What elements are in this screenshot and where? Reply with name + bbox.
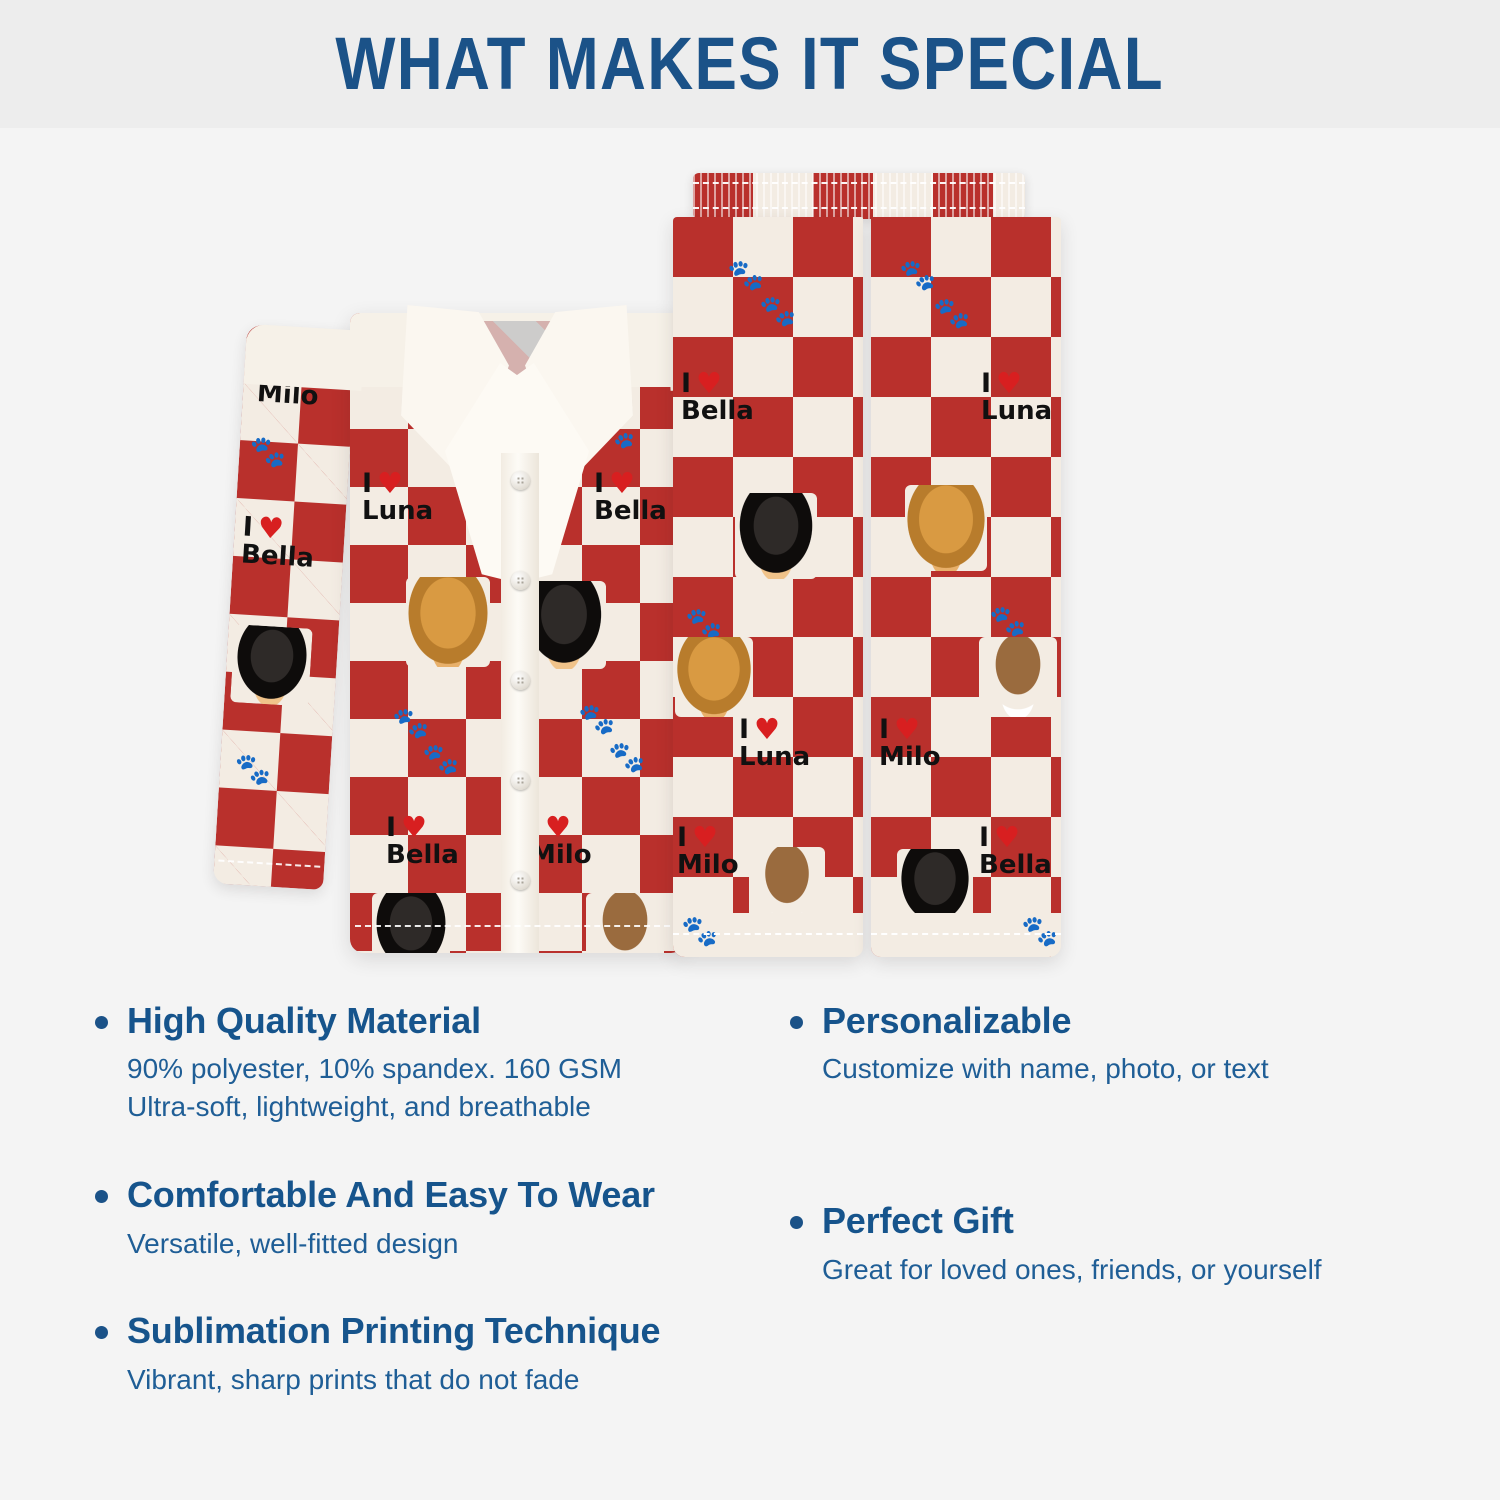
feature-heading: Perfect Gift	[790, 1200, 1365, 1242]
i-letter: I	[362, 471, 374, 497]
paw-print-icon: 🐾	[681, 917, 718, 947]
cuff-stitch	[871, 933, 1061, 935]
motif-i-love-milo: I♥ Milo	[677, 823, 739, 878]
feature-item: Personalizable Customize with name, phot…	[790, 1000, 1365, 1088]
i-letter: I	[979, 825, 991, 851]
sleeve-cuff-stitch	[218, 860, 320, 868]
feature-column-left: High Quality Material 90% polyester, 10%…	[95, 1000, 750, 1500]
shirt-shoulder-left	[244, 324, 365, 391]
feature-heading: Comfortable And Easy To Wear	[95, 1174, 710, 1216]
feature-item: High Quality Material 90% polyester, 10%…	[95, 1000, 710, 1126]
paw-print-icon: 🐾	[933, 299, 970, 329]
feature-column-right: Personalizable Customize with name, phot…	[750, 1000, 1405, 1500]
heart-icon: ♥	[401, 813, 429, 842]
pet-name: Bella	[386, 843, 459, 868]
heart-icon: ♥	[894, 715, 922, 744]
pet-name: Bella	[240, 542, 314, 571]
heart-icon: ♥	[994, 823, 1022, 852]
heart-icon: ♥	[609, 469, 637, 498]
shirt-button	[511, 471, 530, 490]
shirt-button	[511, 571, 530, 590]
heart-icon: ♥	[692, 823, 720, 852]
pet-name: Luna	[362, 499, 433, 524]
page-title: WHAT MAKES IT SPECIAL	[336, 27, 1164, 101]
paw-print-icon: 🐾	[899, 261, 936, 291]
pants-leg-left: 🐾 🐾 I♥ Bella 🐾 🐾 I♥ Luna I♥ Milo 🐾	[673, 217, 863, 957]
paw-print-icon: 🐾	[608, 743, 645, 773]
paw-print-icon: 🐾	[578, 705, 615, 735]
feature-description-line: Versatile, well-fitted design	[127, 1225, 710, 1263]
heart-icon: ♥	[377, 469, 405, 498]
waistband-elastic-texture	[693, 173, 1025, 219]
paw-print-icon: 🐾	[727, 261, 764, 291]
paw-print-icon: 🐾	[233, 754, 272, 786]
feature-description: Customize with name, photo, or text	[822, 1050, 1365, 1088]
motif-i-love-bella: I♥ Bella	[681, 369, 754, 424]
bullet-dot-icon	[790, 1216, 803, 1229]
shirt-button-placket	[501, 453, 539, 953]
dog-photo-tricolor	[735, 493, 817, 579]
pet-name: Milo	[677, 853, 739, 878]
bullet-dot-icon	[95, 1016, 108, 1029]
feature-description: Versatile, well-fitted design	[127, 1225, 710, 1263]
waistband-stitch	[693, 182, 1025, 184]
shirt-button	[511, 671, 530, 690]
feature-description-line: Customize with name, photo, or text	[822, 1050, 1365, 1088]
paw-print-icon: 🐾	[422, 745, 459, 775]
feature-title: Perfect Gift	[822, 1200, 1014, 1242]
dog-photo-golden	[905, 485, 987, 571]
feature-title: Personalizable	[822, 1000, 1071, 1042]
i-letter: I	[242, 514, 256, 540]
bullet-dot-icon	[95, 1326, 108, 1339]
waistband-stitch	[693, 207, 1025, 209]
pajama-pants: 🐾 🐾 I♥ Bella 🐾 🐾 I♥ Luna I♥ Milo 🐾	[645, 173, 1075, 973]
pet-name: Luna	[739, 745, 810, 770]
cuff-stitch	[673, 933, 863, 935]
feature-description-line: Vibrant, sharp prints that do not fade	[127, 1361, 710, 1399]
pants-leg-right: 🐾 🐾 I♥ Luna 🐾 🐾 I♥ Milo I♥ Bella 🐾	[871, 217, 1061, 957]
feature-title: High Quality Material	[127, 1000, 481, 1042]
bullet-dot-icon	[95, 1190, 108, 1203]
feature-heading: Personalizable	[790, 1000, 1365, 1042]
motif-i-love-luna: I♥ Luna	[362, 469, 433, 524]
i-letter: I	[386, 815, 398, 841]
heart-icon: ♥	[696, 369, 724, 398]
dog-photo-tricolor	[230, 624, 313, 707]
motif-i-love-luna: I♥ Luna	[981, 369, 1052, 424]
i-letter: I	[739, 717, 751, 743]
motif-i-love-milo: I♥ Milo	[530, 813, 592, 868]
paw-print-icon: 🐾	[392, 709, 429, 739]
feature-description: Vibrant, sharp prints that do not fade	[127, 1361, 710, 1399]
paw-print-icon: 🐾	[1021, 917, 1058, 947]
motif-i-love-bella: I♥ Bella	[240, 512, 316, 571]
i-letter: I	[677, 825, 689, 851]
feature-heading: High Quality Material	[95, 1000, 710, 1042]
motif-i-love-bella: I♥ Bella	[979, 823, 1052, 878]
pet-name: Milo	[879, 745, 941, 770]
motif-i-love-luna: I♥ Luna	[739, 715, 810, 770]
page-header: WHAT MAKES IT SPECIAL	[0, 0, 1500, 128]
bullet-dot-icon	[790, 1016, 803, 1029]
i-letter: I	[681, 371, 693, 397]
feature-description: 90% polyester, 10% spandex. 160 GSM Ultr…	[127, 1050, 710, 1126]
motif-i-love-milo: I♥ Milo	[879, 715, 941, 770]
pants-waistband	[693, 173, 1025, 219]
paw-print-icon: 🐾	[759, 297, 796, 327]
product-image-stage: I♥ Milo 🐾 I♥ Bella 🐾 I♥ Bella I♥ Luna 🐾	[0, 128, 1500, 1000]
dog-photo-golden	[675, 637, 753, 717]
paw-print-icon: 🐾	[685, 609, 722, 639]
motif-i-love-bella: I♥ Bella	[386, 813, 459, 868]
i-letter: I	[594, 471, 606, 497]
heart-icon: ♥	[754, 715, 782, 744]
shirt-button	[511, 871, 530, 890]
heart-icon: ♥	[996, 369, 1024, 398]
paw-print-icon: 🐾	[989, 607, 1026, 637]
paw-print-icon: 🐾	[249, 437, 288, 469]
dog-photo-golden	[406, 577, 490, 667]
shirt-sleeve-left: I♥ Milo 🐾 I♥ Bella 🐾	[213, 324, 357, 890]
feature-item: Comfortable And Easy To Wear Versatile, …	[95, 1174, 710, 1262]
feature-item: Perfect Gift Great for loved ones, frien…	[790, 1200, 1365, 1288]
shirt-button	[511, 771, 530, 790]
i-letter: I	[879, 717, 891, 743]
feature-title: Sublimation Printing Technique	[127, 1310, 660, 1352]
pet-name: Milo	[530, 843, 592, 868]
dog-photo-beagle	[979, 637, 1057, 717]
feature-title: Comfortable And Easy To Wear	[127, 1174, 655, 1216]
feature-heading: Sublimation Printing Technique	[95, 1310, 710, 1352]
feature-item: Sublimation Printing Technique Vibrant, …	[95, 1310, 710, 1398]
pet-name: Luna	[981, 399, 1052, 424]
feature-description: Great for loved ones, friends, or yourse…	[822, 1251, 1365, 1289]
dog-photo-tricolor	[372, 893, 450, 953]
pet-name: Bella	[979, 853, 1052, 878]
feature-description-line: Great for loved ones, friends, or yourse…	[822, 1251, 1365, 1289]
shirt-hem-stitch	[355, 925, 680, 927]
feature-list: High Quality Material 90% polyester, 10%…	[0, 1000, 1500, 1500]
i-letter: I	[981, 371, 993, 397]
pet-name: Bella	[681, 399, 754, 424]
heart-icon: ♥	[545, 813, 573, 842]
heart-icon: ♥	[257, 513, 287, 544]
feature-description-line: Ultra-soft, lightweight, and breathable	[127, 1088, 710, 1126]
feature-description-line: 90% polyester, 10% spandex. 160 GSM	[127, 1050, 710, 1088]
